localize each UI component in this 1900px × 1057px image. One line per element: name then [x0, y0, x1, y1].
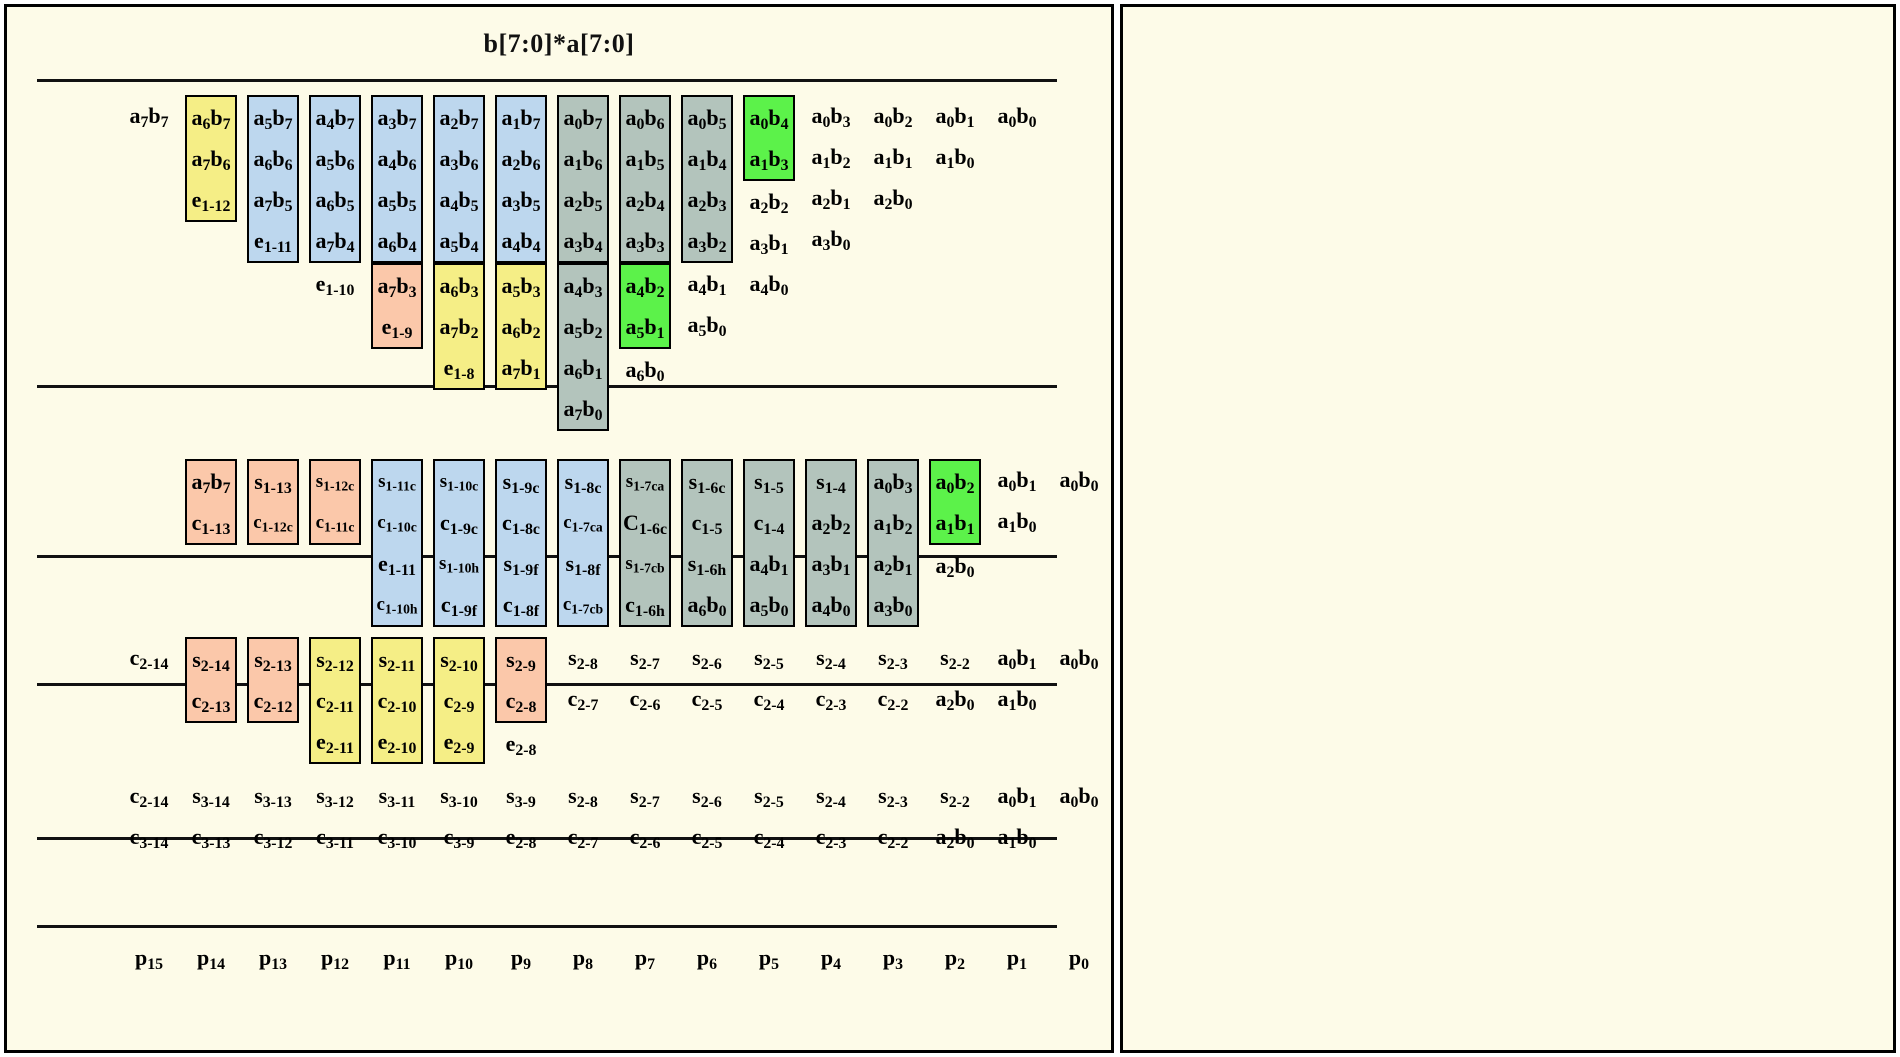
group-proposed_ec: a0b3a1b2a2b1a3b0 — [867, 459, 919, 627]
bit-cell: c2-9 — [435, 680, 483, 721]
bit-cell: s2-4 — [805, 637, 857, 678]
group-plain: s2-5c2-4 — [743, 637, 795, 719]
group-plain: s3-11c3-10 — [371, 775, 423, 857]
bit-cell: c1-11c — [311, 502, 359, 543]
bit-column-15: a7b7 — [123, 95, 175, 136]
bit-cell: s1-9f — [497, 543, 545, 584]
group-plain: s2-7c2-6 — [619, 637, 671, 719]
bit-column-4: s2-4c2-3 — [805, 637, 857, 719]
bit-column-9: s2-9c2-8e2-8 — [495, 637, 547, 764]
bit-cell: c1-13 — [187, 502, 235, 543]
bit-cell: a5b0 — [745, 584, 793, 625]
bit-cell: a4b6 — [373, 138, 421, 179]
group-exact_compressor: a4b7a5b6a6b5a7b4 — [309, 95, 361, 263]
bit-column-3: s2-3c2-2 — [867, 775, 919, 857]
bit-column-15: p15 — [123, 937, 175, 978]
bit-column-2: p2 — [929, 937, 981, 978]
bit-cell: s2-2 — [929, 775, 981, 816]
bit-column-2: a0b2a1b1a2b0 — [929, 459, 981, 586]
group-full_adder: a6b3a7b2e1-8 — [433, 263, 485, 390]
group-plain: s2-6c2-5 — [681, 637, 733, 719]
bit-cell: e2-10 — [373, 721, 421, 762]
bit-cell: s1-6h — [683, 543, 731, 584]
group-approximate_half_adder: a4b2a5b1 — [619, 263, 671, 349]
bit-cell: a6b4 — [373, 220, 421, 261]
group-plain: s3-10c3-9 — [433, 775, 485, 857]
bit-cell: c1-9c — [435, 502, 483, 543]
bit-column-14: a6b7a7b6e1-12 — [185, 95, 237, 222]
bit-cell: c2-5 — [681, 678, 733, 719]
dot-diagram-page: b[7:0]*a[7:0] a7b7a6b7a7b6e1-12a5b7a6b6a… — [0, 0, 1900, 1057]
group-exact_compressor: a2b7a3b6a4b5a5b4 — [433, 95, 485, 263]
bit-cell: a5b5 — [373, 179, 421, 220]
group-plain: s2-2a2b0 — [929, 775, 981, 857]
bit-cell: a5b6 — [311, 138, 359, 179]
bit-cell: a4b3 — [559, 265, 607, 306]
bit-column-14: a7b7c1-13 — [185, 459, 237, 545]
bit-cell: s2-10 — [435, 639, 483, 680]
bit-cell: c1-7ca — [559, 502, 607, 543]
group-plain: p9 — [495, 937, 547, 978]
bit-cell: a1b6 — [559, 138, 607, 179]
group-plain: s2-7c2-6 — [619, 775, 671, 857]
bit-cell: a0b0 — [1053, 775, 1105, 816]
bit-column-9: s1-9cc1-8cs1-9fc1-8f — [495, 459, 547, 627]
bit-column-14: s2-14c2-13 — [185, 637, 237, 723]
bit-column-6: s2-6c2-5 — [681, 775, 733, 857]
bit-cell: s2-12 — [311, 639, 359, 680]
group-plain: s2-6c2-5 — [681, 775, 733, 857]
bit-cell: a7b0 — [559, 388, 607, 429]
bit-cell: a1b0 — [991, 500, 1043, 541]
group-plain: p11 — [371, 937, 423, 978]
bit-cell: a1b7 — [497, 97, 545, 138]
group-half_adder: s2-13c2-12 — [247, 637, 299, 723]
group-half_adder: s2-14c2-13 — [185, 637, 237, 723]
bit-cell: p14 — [185, 937, 237, 978]
bit-cell: e1-8 — [435, 347, 483, 388]
bit-cell: c2-2 — [867, 678, 919, 719]
bit-cell: a4b0 — [807, 584, 855, 625]
bit-cell: a7b6 — [187, 138, 235, 179]
bit-cell: s1-9c — [497, 461, 545, 502]
bit-cell: a0b0 — [1053, 637, 1105, 678]
bit-column-0: p0 — [1053, 937, 1105, 978]
bit-cell: a1b0 — [991, 678, 1043, 719]
bit-column-13: s3-13c3-12 — [247, 775, 299, 857]
bit-cell: a6b7 — [187, 97, 235, 138]
bit-cell: a4b2 — [621, 265, 669, 306]
bit-cell: a0b3 — [805, 95, 857, 136]
group-exact_compressor: a5b7a6b6a7b5e1-11 — [247, 95, 299, 263]
bit-cell: a3b2 — [683, 220, 731, 261]
bit-column-15: c2-14c3-14 — [123, 775, 175, 857]
bit-cell: a5b3 — [497, 265, 545, 306]
bit-cell: a0b0 — [1053, 459, 1105, 500]
group-plain: s2-8c2-7 — [557, 775, 609, 857]
bit-column-5: s2-5c2-4 — [743, 775, 795, 857]
bit-column-8: p8 — [557, 937, 609, 978]
bit-column-13: p13 — [247, 937, 299, 978]
bit-column-7: p7 — [619, 937, 671, 978]
group-plain: p3 — [867, 937, 919, 978]
bit-cell: c1-7cb — [559, 584, 607, 625]
bit-column-9: s3-9e2-8 — [495, 775, 547, 857]
bit-cell: a2b1 — [805, 177, 857, 218]
bit-column-6: a0b5a1b4a2b3a3b2a4b1a5b0 — [681, 95, 733, 345]
bit-column-11: s1-11cc1-10ce1-11c1-10h — [371, 459, 423, 627]
bit-column-9: p9 — [495, 937, 547, 978]
bit-cell: s1-4 — [807, 461, 855, 502]
bit-cell: a1b3 — [745, 138, 793, 179]
bit-cell: a3b3 — [621, 220, 669, 261]
bit-cell: c2-11 — [311, 680, 359, 721]
bit-column-10: s1-10cc1-9cs1-10hc1-9f — [433, 459, 485, 627]
bit-cell: c3-13 — [185, 816, 237, 857]
bit-cell: a2b0 — [867, 177, 919, 218]
bit-column-9: a1b7a2b6a3b5a4b4a5b3a6b2a7b1 — [495, 95, 547, 390]
bit-column-10: a2b7a3b6a4b5a5b4a6b3a7b2e1-8 — [433, 95, 485, 390]
group-plain: p14 — [185, 937, 237, 978]
group-plain: s2-4c2-3 — [805, 775, 857, 857]
bit-cell: e2-9 — [435, 721, 483, 762]
group-plain: a0b1a1b0 — [991, 775, 1043, 857]
bit-cell: a5b7 — [249, 97, 297, 138]
group-plain: a4b1a5b0 — [681, 263, 733, 345]
group-plain: s2-3c2-2 — [867, 775, 919, 857]
bit-column-5: a0b4a1b3a2b2a3b1a4b0 — [743, 95, 795, 304]
bit-column-0: a0b0 — [1053, 637, 1105, 678]
group-plain: a0b2a1b1a2b0 — [867, 95, 919, 218]
bit-cell: a0b7 — [559, 97, 607, 138]
bit-column-14: p14 — [185, 937, 237, 978]
bit-cell: a3b1 — [743, 222, 795, 263]
bit-cell: s1-5 — [745, 461, 793, 502]
bit-cell: c2-3 — [805, 678, 857, 719]
group-plain: a0b0 — [1053, 637, 1105, 678]
bit-cell: a1b5 — [621, 138, 669, 179]
bit-column-1: a0b1a1b0 — [991, 775, 1043, 857]
bit-cell: c2-13 — [187, 680, 235, 721]
bit-cell: e1-11 — [373, 543, 421, 584]
stage-rule — [37, 925, 1057, 928]
bit-cell: a7b7 — [123, 95, 175, 136]
bit-cell: s1-10h — [435, 543, 483, 584]
group-plain: a7b7 — [123, 95, 175, 136]
group-half_adder: a7b3e1-9 — [371, 263, 423, 349]
bit-cell: a0b0 — [991, 95, 1043, 136]
bit-cell: a0b1 — [991, 637, 1043, 678]
bit-cell: c3-11 — [309, 816, 361, 857]
bit-cell: s2-6 — [681, 637, 733, 678]
group-exact_compressor: s1-10cc1-9cs1-10hc1-9f — [433, 459, 485, 627]
bit-cell: p3 — [867, 937, 919, 978]
bit-cell: c1-10h — [373, 584, 421, 625]
bit-cell: e2-8 — [495, 816, 547, 857]
bit-column-8: a0b7a1b6a2b5a3b4a4b3a5b2a6b1a7b0 — [557, 95, 609, 431]
bit-cell: c2-4 — [743, 678, 795, 719]
bit-cell: c1-12c — [249, 502, 297, 543]
bit-column-2: s2-2a2b0 — [929, 775, 981, 857]
bit-cell: c2-7 — [557, 816, 609, 857]
bit-cell: s2-8 — [557, 775, 609, 816]
bit-cell: s2-11 — [373, 639, 421, 680]
group-exact_compressor: s1-9cc1-8cs1-9fc1-8f — [495, 459, 547, 627]
bit-cell: c3-9 — [433, 816, 485, 857]
bit-column-1: a0b0 — [991, 95, 1043, 136]
bit-cell: c2-14 — [123, 637, 175, 678]
bit-cell: a2b2 — [807, 502, 855, 543]
bit-cell: a1b4 — [683, 138, 731, 179]
bit-cell: a6b5 — [311, 179, 359, 220]
bit-cell: c2-12 — [249, 680, 297, 721]
bit-cell: c2-10 — [373, 680, 421, 721]
bit-cell: s2-3 — [867, 637, 919, 678]
bit-cell: a0b1 — [991, 775, 1043, 816]
bit-cell: a1b1 — [867, 136, 919, 177]
group-proposed_ec: a0b6a1b5a2b4a3b3 — [619, 95, 671, 263]
group-half_adder: s1-13c1-12c — [247, 459, 299, 545]
bit-cell: s3-9 — [495, 775, 547, 816]
bit-cell: p6 — [681, 937, 733, 978]
bit-cell: a2b0 — [929, 545, 981, 586]
bit-cell: a3b0 — [805, 218, 857, 259]
stage-rule — [37, 79, 1057, 82]
bit-cell: a5b2 — [559, 306, 607, 347]
bit-column-5: p5 — [743, 937, 795, 978]
bit-cell: e1-11 — [249, 220, 297, 261]
group-plain: s3-12c3-11 — [309, 775, 361, 857]
bit-column-7: s2-7c2-6 — [619, 637, 671, 719]
bit-cell: s1-11c — [373, 461, 421, 502]
group-exact_compressor: a3b7a4b6a5b5a6b4 — [371, 95, 423, 263]
bit-cell: a5b0 — [681, 304, 733, 345]
bit-cell: s2-4 — [805, 775, 857, 816]
bit-cell: a7b2 — [435, 306, 483, 347]
bit-cell: s2-6 — [681, 775, 733, 816]
bit-cell: c1-5 — [683, 502, 731, 543]
group-full_adder: s2-10c2-9e2-9 — [433, 637, 485, 764]
bit-cell: e1-12 — [187, 179, 235, 220]
bit-cell: s1-13 — [249, 461, 297, 502]
bit-cell: c1-10c — [373, 502, 421, 543]
bit-cell: a6b1 — [559, 347, 607, 388]
group-proposed_ec: a0b7a1b6a2b5a3b4 — [557, 95, 609, 263]
group-plain: s3-9e2-8 — [495, 775, 547, 857]
bit-cell: a1b1 — [931, 502, 979, 543]
bit-column-1: a0b1a1b0 — [991, 459, 1043, 541]
bit-cell: s2-14 — [187, 639, 235, 680]
bit-column-12: s1-12cc1-11c — [309, 459, 361, 545]
bit-cell: c2-7 — [557, 678, 609, 719]
group-plain: p8 — [557, 937, 609, 978]
group-plain: p1 — [991, 937, 1043, 978]
bit-cell: a4b1 — [681, 263, 733, 304]
bit-column-7: s1-7caC1-6cs1-7cbc1-6h — [619, 459, 671, 627]
bit-cell: a0b4 — [745, 97, 793, 138]
bit-column-4: a0b3a1b2a2b1a3b0 — [805, 95, 857, 259]
bit-cell: s1-8c — [559, 461, 607, 502]
bit-column-7: a0b6a1b5a2b4a3b3a4b2a5b1a6b0 — [619, 95, 671, 390]
bit-cell: c1-6h — [621, 584, 669, 625]
group-plain: p6 — [681, 937, 733, 978]
bit-cell: C1-6c — [621, 502, 669, 543]
bit-column-8: s2-8c2-7 — [557, 775, 609, 857]
bit-column-7: s2-7c2-6 — [619, 775, 671, 857]
bit-cell: c1-8c — [497, 502, 545, 543]
bit-cell: p11 — [371, 937, 423, 978]
bit-cell: a4b1 — [745, 543, 793, 584]
group-full_adder: a5b3a6b2a7b1 — [495, 263, 547, 390]
bit-cell: p12 — [309, 937, 361, 978]
bit-cell: a3b7 — [373, 97, 421, 138]
bit-cell: c2-14 — [123, 775, 175, 816]
group-plain: e2-8 — [495, 723, 547, 764]
group-plain: c2-14 — [123, 637, 175, 678]
bit-cell: c2-6 — [619, 678, 671, 719]
bit-column-4: s1-4a2b2a3b1a4b0 — [805, 459, 857, 627]
group-approximate_half_adder: a0b4a1b3 — [743, 95, 795, 181]
bit-column-12: a4b7a5b6a6b5a7b4e1-10 — [309, 95, 361, 304]
bit-cell: a4b5 — [435, 179, 483, 220]
group-proposed_ec: s1-4a2b2a3b1a4b0 — [805, 459, 857, 627]
bit-cell: a6b0 — [619, 349, 671, 390]
bit-column-5: s2-5c2-4 — [743, 637, 795, 719]
bit-cell: a7b5 — [249, 179, 297, 220]
bit-column-1: p1 — [991, 937, 1043, 978]
bit-cell: s1-7cb — [621, 543, 669, 584]
bit-column-12: s3-12c3-11 — [309, 775, 361, 857]
bit-cell: a2b5 — [559, 179, 607, 220]
bit-cell: a2b6 — [497, 138, 545, 179]
group-exact_compressor: a1b7a2b6a3b5a4b4 — [495, 95, 547, 263]
bit-cell: p9 — [495, 937, 547, 978]
partial-product-diagram-panel: b[7:0]*a[7:0] a7b7a6b7a7b6e1-12a5b7a6b6a… — [4, 4, 1114, 1053]
group-plain: a2b0 — [929, 545, 981, 586]
group-plain: a0b0 — [991, 95, 1043, 136]
bit-cell: s2-9 — [497, 639, 545, 680]
group-plain: s2-2a2b0 — [929, 637, 981, 719]
bit-cell: a3b4 — [559, 220, 607, 261]
legend-panel: Exact compressorProposed-ECFull adderHal… — [1120, 4, 1896, 1053]
bit-cell: s1-10c — [435, 461, 483, 502]
bit-column-4: p4 — [805, 937, 857, 978]
group-plain: p13 — [247, 937, 299, 978]
bit-cell: a4b4 — [497, 220, 545, 261]
bit-cell: c2-2 — [867, 816, 919, 857]
group-plain: p0 — [1053, 937, 1105, 978]
bit-column-0: a0b0 — [1053, 775, 1105, 816]
bit-cell: c2-5 — [681, 816, 733, 857]
bit-cell: a0b2 — [867, 95, 919, 136]
bit-cell: e2-8 — [495, 723, 547, 764]
group-plain: p15 — [123, 937, 175, 978]
bit-cell: s2-8 — [557, 637, 609, 678]
bit-column-1: a0b1a1b0 — [991, 637, 1043, 719]
bit-cell: c3-12 — [247, 816, 299, 857]
bit-column-3: p3 — [867, 937, 919, 978]
bit-column-3: s2-3c2-2 — [867, 637, 919, 719]
group-plain: s2-4c2-3 — [805, 637, 857, 719]
bit-cell: s3-10 — [433, 775, 485, 816]
bit-cell: a2b7 — [435, 97, 483, 138]
bit-cell: s2-7 — [619, 775, 671, 816]
group-plain: a0b0 — [1053, 775, 1105, 816]
bit-cell: a3b5 — [497, 179, 545, 220]
bit-column-12: p12 — [309, 937, 361, 978]
bit-cell: s2-5 — [743, 637, 795, 678]
bit-cell: a0b6 — [621, 97, 669, 138]
bit-cell: a7b1 — [497, 347, 545, 388]
bit-column-11: s2-11c2-10e2-10 — [371, 637, 423, 764]
group-plain: p4 — [805, 937, 857, 978]
bit-column-6: p6 — [681, 937, 733, 978]
bit-cell: s2-7 — [619, 637, 671, 678]
group-plain: p10 — [433, 937, 485, 978]
bit-column-10: s3-10c3-9 — [433, 775, 485, 857]
bit-column-8: s2-8c2-7 — [557, 637, 609, 719]
bit-cell: a6b3 — [435, 265, 483, 306]
bit-cell: a2b0 — [929, 816, 981, 857]
group-plain: s2-5c2-4 — [743, 775, 795, 857]
page-title: b[7:0]*a[7:0] — [7, 29, 1111, 59]
bit-cell: s2-5 — [743, 775, 795, 816]
bit-cell: s3-11 — [371, 775, 423, 816]
group-approximate_half_adder: a0b2a1b1 — [929, 459, 981, 545]
group-exact_compressor: s1-11cc1-10ce1-11c1-10h — [371, 459, 423, 627]
bit-cell: a3b0 — [869, 584, 917, 625]
group-plain: s3-14c3-13 — [185, 775, 237, 857]
bit-column-11: s3-11c3-10 — [371, 775, 423, 857]
stage-rule — [37, 385, 1057, 388]
group-half_adder: s2-9c2-8 — [495, 637, 547, 723]
bit-column-13: s1-13c1-12c — [247, 459, 299, 545]
bit-cell: a0b1 — [929, 95, 981, 136]
group-plain: s2-3c2-2 — [867, 637, 919, 719]
bit-column-3: a0b2a1b1a2b0 — [867, 95, 919, 218]
group-plain: p7 — [619, 937, 671, 978]
group-plain: p5 — [743, 937, 795, 978]
group-plain: a0b0 — [1053, 459, 1105, 500]
bit-cell: s2-2 — [929, 637, 981, 678]
group-proposed_ec: a4b3a5b2a6b1a7b0 — [557, 263, 609, 431]
bit-cell: s1-8f — [559, 543, 607, 584]
bit-cell: a5b4 — [435, 220, 483, 261]
bit-cell: a0b5 — [683, 97, 731, 138]
group-plain: a0b1a1b0 — [991, 459, 1043, 541]
bit-column-4: s2-4c2-3 — [805, 775, 857, 857]
group-plain: c2-14c3-14 — [123, 775, 175, 857]
bit-cell: c1-8f — [497, 584, 545, 625]
group-proposed_ec: s1-5c1-4a4b1a5b0 — [743, 459, 795, 627]
group-plain: a0b1a1b0 — [929, 95, 981, 177]
bit-cell: p8 — [557, 937, 609, 978]
bit-cell: p7 — [619, 937, 671, 978]
bit-cell: a5b1 — [621, 306, 669, 347]
group-plain: p12 — [309, 937, 361, 978]
bit-column-2: a0b1a1b0 — [929, 95, 981, 177]
bit-cell: a2b2 — [743, 181, 795, 222]
bit-cell: a1b0 — [991, 816, 1043, 857]
bit-cell: c1-4 — [745, 502, 793, 543]
bit-cell: c2-8 — [497, 680, 545, 721]
bit-cell: c3-14 — [123, 816, 175, 857]
bit-cell: p15 — [123, 937, 175, 978]
group-proposed_ec: a0b5a1b4a2b3a3b2 — [681, 95, 733, 263]
group-plain: a6b0 — [619, 349, 671, 390]
bit-cell: a7b7 — [187, 461, 235, 502]
group-proposed_ec: s1-6cc1-5s1-6ha6b0 — [681, 459, 733, 627]
